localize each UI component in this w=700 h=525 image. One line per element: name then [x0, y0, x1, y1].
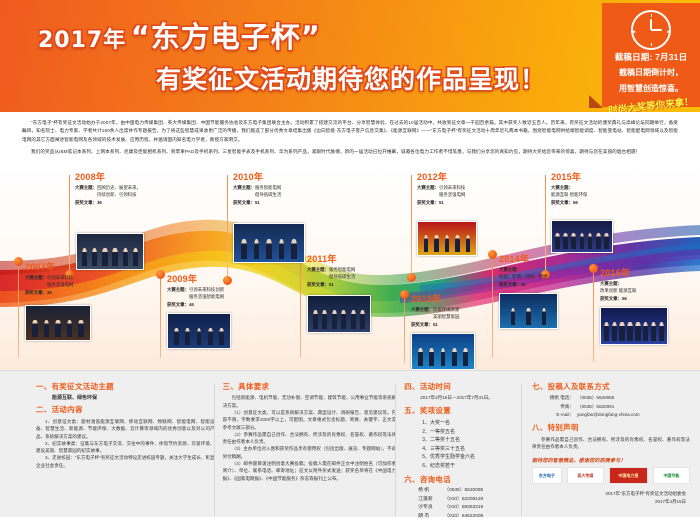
count-value-2010: 51 [255, 200, 260, 205]
timeline-entry-2016[interactable]: 2016年 大赛主题： 改革创新 能源互联 获奖文章：56 [600, 269, 700, 302]
count-value-2016: 56 [622, 296, 627, 301]
theme-text-2011-a: 服务智能电网 [329, 267, 355, 272]
submit-row-1: 杨帆 电话：（0535）5520085 [532, 394, 690, 402]
theme-label: 大赛主题： [551, 185, 573, 190]
award-item-2: 2、一等奖五名 [404, 428, 522, 437]
submit-key-3: E-mail： [542, 411, 574, 419]
section-7-heading: 七、投稿人及联系方式 [532, 381, 690, 392]
footer-column-2: 三、具体要求 包括新能源、电机节能、无功补偿、空调节能、建筑节能、公用事业节能等… [215, 378, 397, 513]
clock-icon [631, 10, 671, 50]
timeline-year-2012: 2012年 [417, 173, 521, 183]
timeline-entry-2009[interactable]: 2009年 大赛主题：引领未来科技创新 服务坚强智能电网 获奖文章：46 [167, 275, 271, 308]
footer-column-4: 七、投稿人及联系方式 杨帆 电话：（0535）5520085 传真：（0535）… [522, 378, 690, 513]
submit-row-3[interactable]: E-mail：yangfan@dongfang-china.com [532, 411, 690, 419]
theme-text-2007-a: 引领未来科技 [47, 275, 73, 280]
timeline-year-2010: 2010年 [233, 173, 337, 183]
timeline-year-2009: 2009年 [167, 275, 271, 285]
timeline-photo-2010[interactable] [233, 223, 305, 263]
title-subtitle: 有奖征文活动期待您的作品呈现！ [156, 65, 546, 94]
theme-label: 大赛主题： [600, 281, 622, 286]
timeline-stem-2013 [404, 293, 405, 363]
contact-row-2: 江蓬新（010）52208128 [404, 496, 522, 505]
count-label: 获奖文章： [307, 282, 329, 287]
count-label: 获奖文章： [75, 200, 97, 205]
section-2-item-3: 3、走进校园：“东方电子杯”有奖征文活动特设走进校园专题，关注大学生成长、彰显企… [36, 454, 215, 469]
section-8-body: 参赛作品需自己创作、合法拥有、所涉及的肖像权、名誉权、著作权等法律责任由作者本人… [532, 436, 690, 451]
badge-line-4: 时尚大奖等你来拿！ [606, 94, 697, 112]
signature-line-2: 2017年4月15日 [532, 498, 686, 506]
award-item-5: 5、优秀学生励学金六名 [404, 453, 522, 462]
section-6-heading: 六、咨询电话 [404, 474, 522, 485]
clock-minute-hand [651, 29, 662, 31]
timeline-year-2014: 2014年 [499, 255, 603, 265]
theme-text-2014-a: 智能、智慧、绿色、梦想 [499, 274, 547, 279]
theme-label: 大赛主题： [417, 185, 439, 190]
footer-column-1: 一、有奖征文活动主题 能源互联、绿色环保 二、活动内容 1、创意征文类：题材涵盖… [10, 378, 215, 513]
badge-line-2: 截稿日期倒计时， [606, 67, 696, 79]
award-item-4: 4、三等奖三十五名 [404, 445, 522, 454]
timeline-year-2016: 2016年 [600, 269, 700, 279]
theme-text-2015-a: 能源互联 智能环保 [551, 192, 587, 197]
section-8-heading: 八、特别声明 [532, 422, 690, 433]
timeline-entry-2012[interactable]: 2012年 大赛主题：引领未来科技 服务坚强电网 获奖文章：51 [417, 173, 521, 206]
count-label: 获奖文章： [551, 200, 573, 205]
submit-email[interactable]: yangfan@dongfang-china.com [577, 412, 640, 417]
theme-label: 大赛主题： [75, 185, 97, 190]
timeline-entry-2007[interactable]: 2007年 大赛主题：引领未来科技 服务坚强电网 获奖文章：26 [25, 263, 129, 296]
dongfang-electronics-logo: 东方电子 [532, 467, 562, 484]
award-item-1: 1、大奖一名 [404, 419, 522, 428]
header-title-block: 2017年 “东方电子杯” 有奖征文活动期待您的作品呈现！ [38, 14, 578, 96]
badge-line-3: 用智慧创造惊喜。 [606, 83, 696, 95]
timeline-stem-2007 [18, 260, 19, 358]
timeline-node-2014[interactable] [488, 250, 497, 259]
timeline-entry-2010[interactable]: 2010年 大赛主题：服务智能电网 倡导低碳生活 获奖文章：51 [233, 173, 337, 206]
details-section: 一、有奖征文活动主题 能源互联、绿色环保 二、活动内容 1、创意征文类：题材涵盖… [0, 370, 700, 517]
yingda-media-logo: 英大传媒 [567, 467, 604, 484]
section-3-item-2: （2）参赛作品需自己创作、合法拥有、所涉及的肖像权、名誉权、著作权等法律责任由作… [223, 431, 397, 446]
theme-label: 大赛主题： [307, 267, 329, 272]
sponsor-logo-row: 东方电子 英大传媒 中国电力报 中国节能 [532, 467, 690, 484]
timeline-photo-2013[interactable] [411, 333, 475, 370]
title-year: 2017年 [38, 28, 126, 53]
footer-column-3: 四、活动时间 2017年4月15日－2017年7月31日。 五、奖项设置 1、大… [396, 378, 522, 513]
count-value-2013: 51 [433, 322, 438, 327]
timeline-year-2008: 2008年 [75, 173, 179, 183]
timeline-stem-2008 [69, 175, 70, 275]
timeline-photo-2007[interactable] [25, 305, 91, 341]
submit-val-2: （0535）5520091 [577, 404, 614, 409]
contact-phone-3: （010）58363319 [444, 505, 483, 510]
signature-block: 2017年“东方电子杯”有奖征文活动组委会 2017年4月15日 [532, 490, 690, 505]
theme-label: 大赛主题： [233, 185, 255, 190]
china-energy-saving-logo: 中国节能 [653, 467, 690, 484]
contact-phone-2: （010）52208128 [444, 497, 483, 502]
award-item-3: 3、二等奖十五名 [404, 436, 522, 445]
china-power-news-logo: 中国电力报 [609, 467, 648, 484]
theme-text-2012-a: 引领未来科技 [439, 185, 465, 190]
theme-text-2009-b: 服务坚强智能电网 [189, 294, 224, 299]
timeline-year-2011: 2011年 [307, 255, 411, 265]
submit-val-1: （0535）5520085 [577, 395, 614, 400]
timeline-photo-2009[interactable] [167, 313, 231, 349]
count-label: 获奖文章： [25, 290, 47, 295]
timeline-node-2009[interactable] [156, 270, 165, 279]
section-5-heading: 五、奖项设置 [404, 405, 522, 416]
theme-text-2012-b: 服务坚强电网 [439, 192, 465, 197]
contact-row-4: 朗 杰（010）64522008 [404, 513, 522, 522]
submit-row-2: 传真：（0535）5520091 [532, 403, 690, 411]
timeline-stem-2009 [160, 273, 161, 358]
contact-name-1: 杨 帆 [418, 487, 444, 496]
timeline-photo-2015[interactable] [551, 220, 613, 253]
timeline-photo-2011[interactable] [307, 295, 371, 333]
section-2-heading: 二、活动内容 [36, 404, 215, 415]
badge-deadline-text: 截稿日期: 7月31日 [606, 51, 696, 63]
contact-phone-4: （010）64522008 [444, 514, 483, 519]
section-3-item-1: （1）创意征文类，可以是系统解决方案、典型设计、调研报告、意见建议等。内容不限，… [223, 409, 397, 431]
submit-key-1: 杨帆 电话： [542, 394, 574, 402]
count-label: 获奖文章： [600, 296, 622, 301]
history-timeline: 2008年 大赛主题：回顾历史、展望未来， 持续创新、引领科技 获奖文章：36 … [0, 165, 700, 370]
timeline-photo-2014[interactable] [499, 293, 558, 329]
count-label: 获奖文章： [499, 282, 521, 287]
section-3-lead: 包括新能源、电机节能、无功补偿、空调节能、建筑节能、公用事业节能等系统解决方案。 [223, 394, 397, 409]
activity-time-value: 2017年4月15日－2017年7月31日。 [404, 394, 522, 402]
theme-label: 大赛主题： [499, 267, 521, 272]
timeline-year-2015: 2015年 [551, 173, 655, 183]
timeline-stem-2012 [411, 175, 412, 275]
section-1-heading: 一、有奖征文活动主题 [36, 381, 215, 392]
section-3-item-4: （4）邮件题目请注明创意大赛投稿；投稿人需在邮件正文中注明姓名（可加作者简介）、… [223, 460, 397, 482]
count-label: 获奖文章： [417, 200, 439, 205]
theme-text-2011-b: 倡导低碳生活 [329, 274, 355, 279]
timeline-entry-2015[interactable]: 2015年 大赛主题： 能源互联 智能环保 获奖文章：56 [551, 173, 655, 206]
count-value-2011: 51 [329, 282, 334, 287]
timeline-entry-2008[interactable]: 2008年 大赛主题：回顾历史、展望未来， 持续创新、引领科技 获奖文章：36 [75, 173, 179, 206]
deadline-badge: 截稿日期: 7月31日 截稿日期倒计时， 用智慧创造惊喜。 时尚大奖等你来拿！ [602, 3, 700, 107]
count-label: 获奖文章： [233, 200, 255, 205]
timeline-year-2007: 2007年 [25, 263, 129, 273]
theme-text-2010-b: 倡导低碳生活 [255, 192, 281, 197]
timeline-photo-2016[interactable] [600, 307, 668, 345]
contact-name-2: 江蓬新 [418, 496, 444, 505]
count-value-2008: 36 [97, 200, 102, 205]
title-quoted: “东方电子杯” [131, 20, 321, 54]
count-label: 获奖文章： [411, 322, 433, 327]
intro-section: “东方电子”杯有奖征文活动始办于2007年，由中国电力传媒集团、英大传媒集团、中… [0, 112, 700, 165]
section-4-heading: 四、活动时间 [404, 381, 522, 392]
timeline-stem-2010 [227, 175, 228, 279]
theme-text-2008-a: 回顾历史、展望未来， [97, 185, 141, 190]
timeline-entry-2014[interactable]: 2014年 大赛主题： 智能、智慧、绿色、梦想 获奖文章：56 [499, 255, 603, 288]
timeline-stem-2011 [300, 253, 301, 358]
title-line-1: 2017年 “东方电子杯” [38, 14, 578, 56]
contact-row-1: 杨 帆（0535）5520085 [404, 487, 522, 496]
count-value-2009: 46 [189, 302, 194, 307]
count-value-2012: 51 [439, 200, 444, 205]
sponsor-caption: 期待您的智慧精品，感谢您的热情参与！ [532, 457, 690, 464]
contact-name-4: 朗 杰 [418, 513, 444, 522]
theme-text-2013-a: 珍爱环境资源 [433, 307, 459, 312]
theme-label: 大赛主题： [411, 307, 433, 312]
theme-text-2010-a: 服务智能电网 [255, 185, 281, 190]
timeline-node-2007[interactable] [14, 257, 23, 266]
contact-phone-1: （0535）5520085 [444, 488, 483, 493]
signature-line-1: 2017年“东方电子杯”有奖征文活动组委会 [532, 490, 686, 498]
timeline-node-2013[interactable] [400, 290, 409, 299]
award-item-6: 6、纪念奖若干 [404, 462, 522, 471]
contact-name-3: 沙专员 [418, 504, 444, 513]
count-value-2015: 56 [573, 200, 578, 205]
timeline-entry-2011[interactable]: 2011年 大赛主题：服务智能电网 倡导低碳生活 获奖文章：51 [307, 255, 411, 288]
count-value-2007: 26 [47, 290, 52, 295]
section-2-item-2: 2、纪实故事类：征集与东方电子交流、交往中的事件、体现节约资源、珍爱环境、建设美… [36, 440, 215, 455]
theme-text-2009-a: 引领未来科技创新 [189, 287, 224, 292]
theme-text-2016-a: 改革创新 能源互联 [600, 288, 636, 293]
count-value-2014: 56 [521, 282, 526, 287]
intro-paragraph-2: 我们的奖品从IBM笔记本系列、上网本系列、尼康及佳能相机系列、到苹果PAD及手机… [22, 148, 678, 156]
theme-text-2013-b: 美丽智慧家园 [433, 314, 459, 319]
timeline-photo-2012[interactable] [417, 221, 477, 256]
theme-text-2008-b: 持续创新、引领科技 [97, 192, 137, 197]
count-label: 获奖文章： [167, 302, 189, 307]
section-1-subtitle: 能源互联、绿色环保 [36, 394, 215, 401]
title-line-2: 有奖征文活动期待您的作品呈现！ [38, 60, 578, 96]
theme-label: 大赛主题： [25, 275, 47, 280]
poster-header: 2017年 “东方电子杯” 有奖征文活动期待您的作品呈现！ 截稿日期: 7月31… [0, 0, 700, 112]
intro-paragraph-1: “东方电子”杯有奖征文活动始办于2007年，由中国电力传媒集团、英大传媒集团、中… [22, 119, 678, 144]
section-2-item-1: 1、创意征文类：题材涵盖能源互联网、移动互联网、物联网、智能电网、智能设备、智慧… [36, 418, 215, 440]
section-3-item-3: （3）主办单位对入围和获奖作品享有使用权（包括出版、展览、专题网站），不再另付稿… [223, 445, 397, 460]
contact-row-3: 沙专员（010）58363319 [404, 504, 522, 513]
theme-text-2007-b: 服务坚强电网 [47, 282, 73, 287]
theme-label: 大赛主题： [167, 287, 189, 292]
submit-key-2: 传真： [542, 403, 574, 411]
section-3-heading: 三、具体要求 [223, 381, 397, 392]
